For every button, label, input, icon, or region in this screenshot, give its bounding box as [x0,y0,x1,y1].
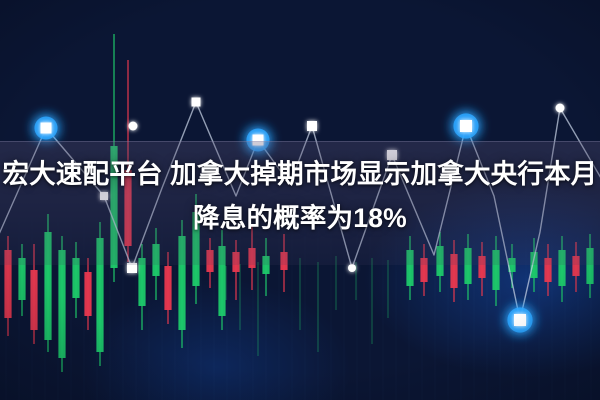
trend-node-circle [348,264,356,272]
banner-canvas: 宏大速配平台 加拿大掉期市场显示加拿大央行本月 降息的概率为18% [0,0,600,400]
trend-node-circle [129,122,138,131]
trend-node-square [253,135,264,146]
trend-node-square [514,314,526,326]
headline-line-2: 降息的概率为18% [0,196,600,240]
trend-node-square [307,121,317,131]
headline-line-1: 宏大速配平台 加拿大掉期市场显示加拿大央行本月 [3,159,598,189]
trend-node-square [192,98,201,107]
headline: 宏大速配平台 加拿大掉期市场显示加拿大央行本月 降息的概率为18% [0,152,600,240]
trend-node-square [460,120,472,132]
headline-band-edge [0,141,600,142]
trend-node-circle [556,104,565,113]
trend-node-square [41,123,52,134]
trend-node-square [127,263,137,273]
